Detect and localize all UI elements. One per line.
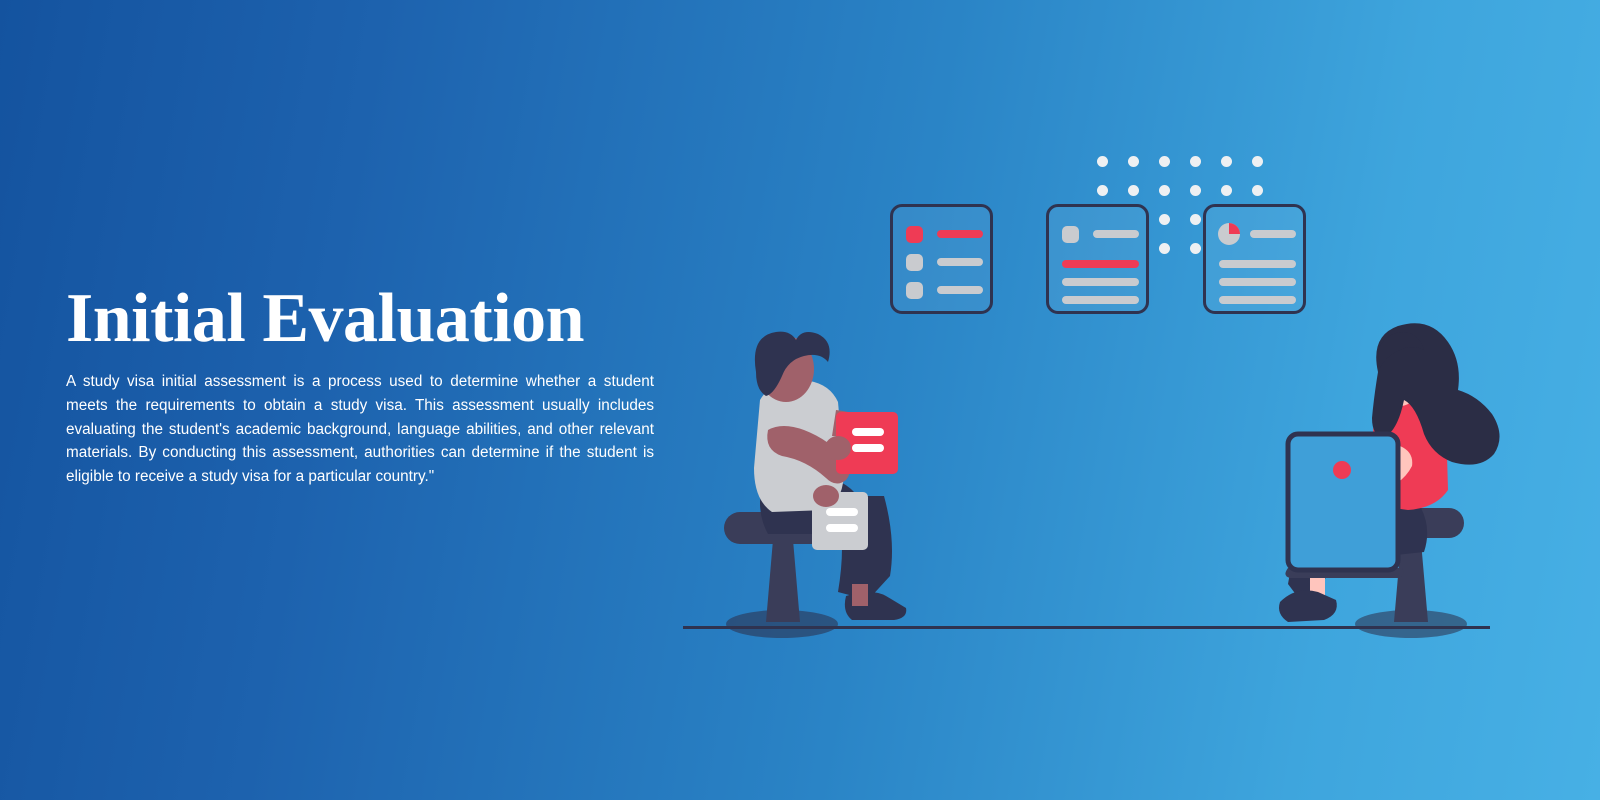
ankle-right — [1310, 576, 1325, 602]
list-icon — [906, 254, 923, 271]
grid-dot — [1128, 156, 1139, 167]
card-line — [1093, 230, 1139, 238]
chair-stem-left — [766, 528, 800, 622]
grid-dot — [1190, 243, 1201, 254]
card-line — [937, 230, 983, 238]
grid-dot — [1097, 156, 1108, 167]
shoe-back-left — [845, 592, 906, 620]
chair-seat-right — [1364, 508, 1464, 538]
grid-dot — [1190, 156, 1201, 167]
grid-dot — [1252, 156, 1263, 167]
grid-dot — [1159, 214, 1170, 225]
hair-right — [1372, 323, 1500, 464]
grid-dot — [1159, 156, 1170, 167]
grid-dot — [1159, 185, 1170, 196]
hips-left — [760, 476, 862, 534]
list-icon — [906, 282, 923, 299]
shoe-right — [1279, 590, 1337, 622]
top-right — [1372, 385, 1448, 510]
grid-dot — [1221, 156, 1232, 167]
pie-chart-icon — [1218, 223, 1240, 245]
chair-seat-left — [724, 512, 852, 544]
floor-line — [683, 626, 1490, 629]
hair-left — [755, 332, 830, 396]
leg-back-left — [838, 496, 892, 600]
illustration — [0, 0, 1600, 800]
face-right — [1378, 350, 1422, 406]
hand-lower-left — [813, 485, 839, 507]
laptop-base — [1285, 568, 1403, 578]
laptop-worker — [1279, 323, 1500, 622]
report-card[interactable] — [1203, 204, 1306, 314]
document-icon — [1062, 226, 1079, 243]
grid-dot — [1221, 185, 1232, 196]
card-line — [1219, 260, 1296, 268]
card-line — [937, 258, 983, 266]
grey-document — [812, 492, 868, 550]
grey-document-line — [826, 508, 858, 516]
head-left — [758, 336, 814, 402]
card-line — [1219, 296, 1296, 304]
red-document-line — [852, 444, 884, 452]
card-line — [1219, 278, 1296, 286]
list-icon — [906, 226, 923, 243]
arm-far-left — [832, 410, 890, 458]
arm-right — [1336, 446, 1413, 500]
grid-dot — [1190, 185, 1201, 196]
grid-dot — [1159, 243, 1170, 254]
tshirt-left — [754, 380, 844, 512]
legs-right — [1288, 506, 1427, 600]
grid-dot — [1252, 185, 1263, 196]
chair-shadow-left — [726, 610, 838, 638]
seated-reviewer — [724, 332, 906, 622]
hair-fringe-right — [1378, 332, 1424, 368]
arm-near-left — [767, 426, 850, 484]
red-document-line — [852, 428, 884, 436]
characters-svg — [0, 0, 1600, 800]
card-line — [1062, 260, 1139, 268]
card-line — [1062, 296, 1139, 304]
card-line — [937, 286, 983, 294]
laptop-lid — [1288, 434, 1398, 570]
laptop-logo — [1333, 461, 1351, 479]
card-line — [1250, 230, 1296, 238]
grid-dot — [1190, 214, 1201, 225]
chair-stem-right — [1394, 530, 1428, 622]
grey-document-line — [826, 524, 858, 532]
hand-upper-left — [825, 436, 851, 460]
chair-shadow-right — [1355, 610, 1467, 638]
card-line — [1062, 278, 1139, 286]
grid-dot — [1128, 185, 1139, 196]
grid-dot — [1097, 185, 1108, 196]
initial-evaluation-banner: Initial Evaluation A study visa initial … — [0, 0, 1600, 800]
checklist-card[interactable] — [890, 204, 993, 314]
document-card[interactable] — [1046, 204, 1149, 314]
ankle-left — [852, 584, 868, 606]
red-document — [836, 412, 898, 474]
